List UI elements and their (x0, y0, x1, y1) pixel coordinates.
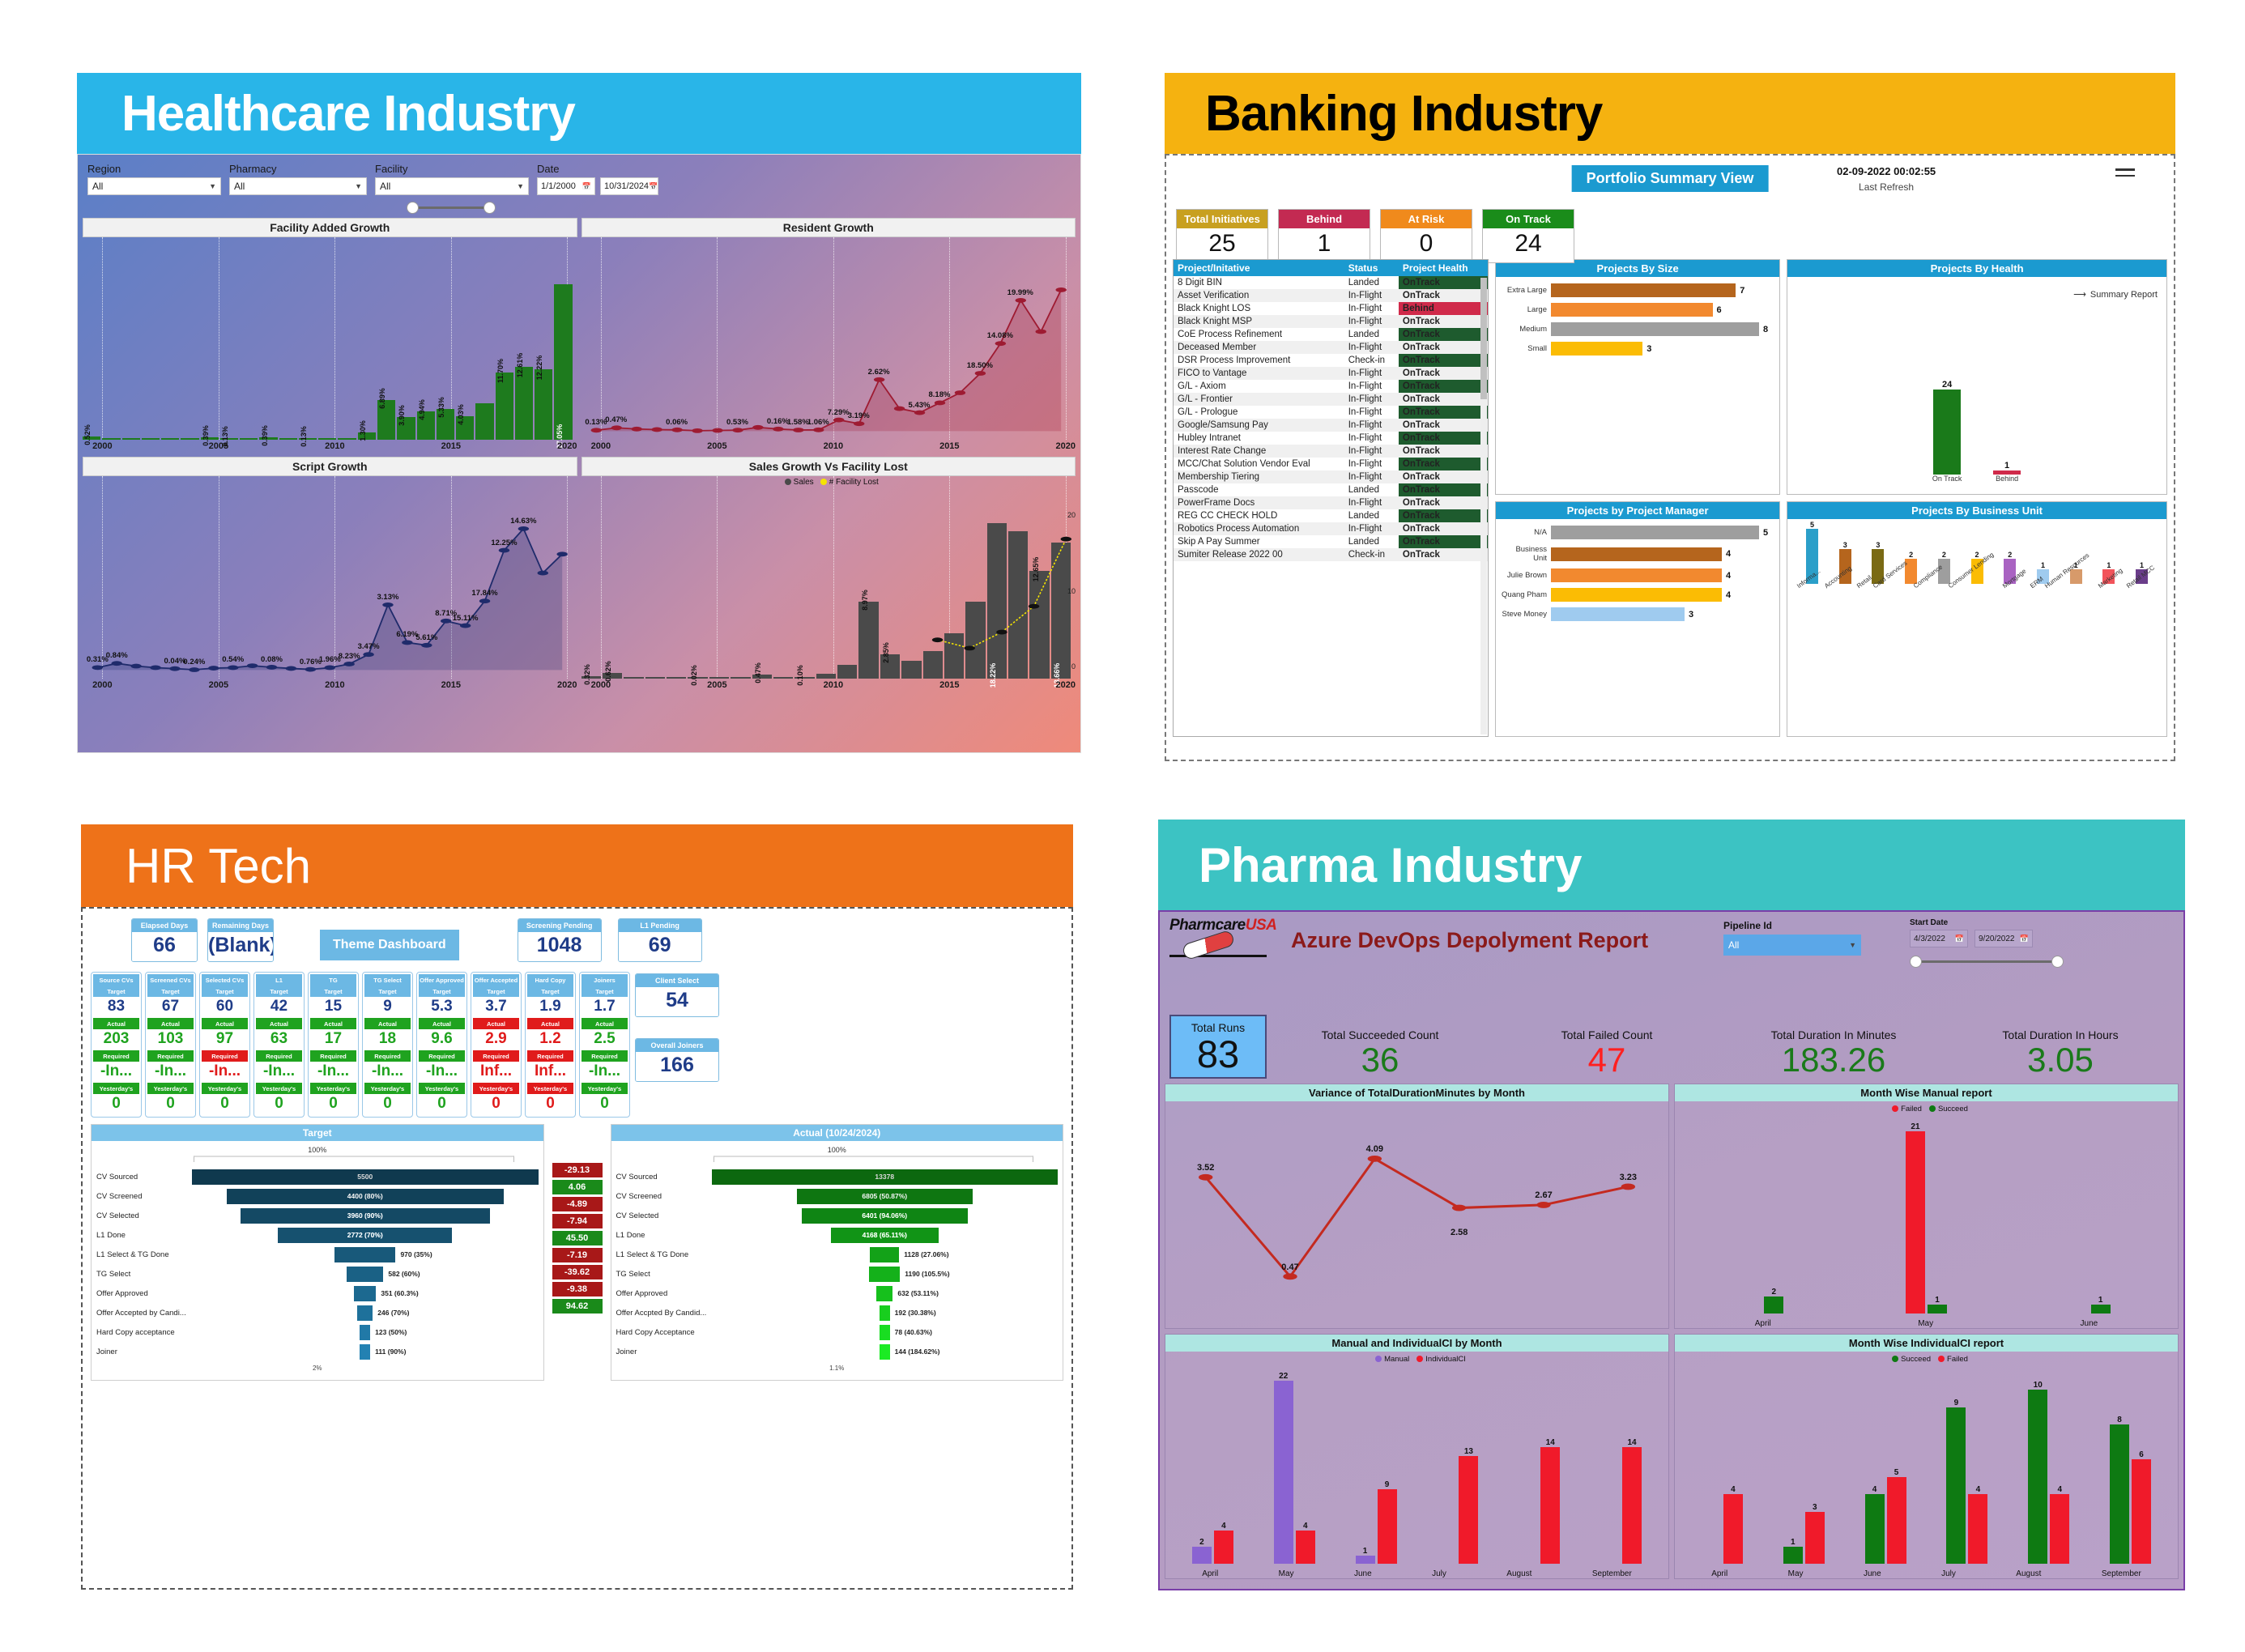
funnel-label: Joiner (616, 1348, 712, 1356)
funnel-value: 4400 (80%) (347, 1192, 383, 1200)
pipeline-label: Pipeline Id (1723, 920, 1861, 931)
band-value: 3.7 (473, 997, 519, 1018)
bar-value: 8 (1763, 325, 1768, 334)
table-cell: Check-in (1344, 548, 1399, 561)
table-row[interactable]: Sumiter Release 2022 00Check-inOnTrack (1174, 548, 1488, 561)
table-cell: In-Flight (1344, 458, 1399, 470)
last-refresh-block: 02-09-2022 00:02:55 Last Refresh (1837, 165, 1936, 193)
table-scrollbar-thumb[interactable] (1480, 278, 1487, 399)
table-row[interactable]: Asset VerificationIn-FlightOnTrack (1174, 289, 1488, 302)
bar (1551, 342, 1642, 356)
band-value: 97 (202, 1029, 248, 1050)
chevron-down-icon: ▼ (517, 182, 524, 190)
band-value: 0 (93, 1094, 139, 1115)
funnel-label: Hard Copy Acceptance (616, 1328, 712, 1337)
date-to-input[interactable]: 10/31/2024 📅 (600, 177, 658, 195)
band-label: Offer Approved (419, 974, 465, 986)
point-label: 0.76% (300, 658, 322, 666)
table-row[interactable]: G/L - PrologueIn-FlightOnTrack (1174, 406, 1488, 419)
chart-title: Variance of TotalDurationMinutes by Mont… (1165, 1084, 1668, 1101)
hrtech-kpi-8: Hard CopyTarget1.9Actual1.2RequiredInf..… (525, 972, 576, 1118)
card-label: Overall Joiners (636, 1039, 718, 1052)
point-label: 0.08% (261, 655, 283, 664)
funnel-bar (880, 1305, 890, 1321)
funnel-bar-wrap: 351 (60.3%) (192, 1286, 539, 1301)
pharma-date-from[interactable]: 4/3/2022 📅 (1910, 930, 1968, 947)
bar-value: 1 (2098, 1296, 2103, 1305)
funnel-bar (354, 1286, 376, 1301)
table-row[interactable]: MCC/Chat Solution Vendor EvalIn-FlightOn… (1174, 458, 1488, 470)
funnel-value: 111 (90%) (375, 1348, 406, 1356)
chart-title: Script Growth (83, 457, 577, 476)
bar-group: 45 (1865, 1373, 1906, 1564)
point-label: 2.67 (1535, 1190, 1552, 1200)
slider-knob-right[interactable] (484, 202, 496, 214)
logo-suffix: USA (1246, 917, 1277, 934)
bar-label: Business Unit (1501, 545, 1551, 563)
portfolio-summary-view-button[interactable]: Portfolio Summary View (1572, 165, 1769, 192)
pharma-date-from-value: 4/3/2022 (1914, 935, 1945, 943)
chart-title: Projects by Project Manager (1496, 502, 1779, 519)
band-label: Actual (527, 1018, 573, 1029)
filter-facility-select[interactable]: All ▼ (375, 177, 529, 195)
table-row[interactable]: Google/Samsung PayIn-FlightOnTrack (1174, 419, 1488, 432)
funnel-ruler (194, 1156, 514, 1162)
bar-row: Quang Pham4 (1501, 588, 1774, 602)
band-label: Actual (364, 1018, 411, 1029)
banking-kpi-row: Total Initiatives25Behind1At Risk0On Tra… (1176, 209, 1574, 263)
slider-knob-left[interactable] (407, 202, 419, 214)
table-row[interactable]: PowerFrame DocsIn-FlightOnTrack (1174, 496, 1488, 509)
point-label: 0.04% (164, 657, 185, 666)
x-axis: AprilMayJune (1681, 1319, 2171, 1328)
refresh-timestamp: 02-09-2022 00:02:55 (1837, 165, 1936, 177)
hrtech-kpi-2: Selected CVsTarget60Actual97Required-In.… (199, 972, 250, 1118)
x-axis: 20002005201020152020 (83, 680, 577, 692)
card-label: Client Select (636, 974, 718, 987)
table-row[interactable]: Interest Rate ChangeIn-FlightOnTrack (1174, 445, 1488, 458)
band-label: Selected CVs (202, 974, 248, 986)
bar-value: 2 (1975, 551, 1979, 559)
table-cell: In-Flight (1344, 470, 1399, 483)
bar: 4.94% (417, 411, 435, 440)
kpi-value: 47 (1493, 1041, 1720, 1079)
chart-plot: 24On Track1Behind (1787, 277, 2166, 494)
table-scrollbar[interactable] (1480, 278, 1487, 734)
band-label: Required (256, 1050, 302, 1062)
band-value: 60 (202, 997, 248, 1018)
bar-value: 1 (1935, 1296, 1940, 1305)
band-label: Source CVs (93, 974, 139, 986)
bar: 8 (2110, 1424, 2129, 1564)
legend-swatch (1892, 1105, 1898, 1112)
point-label: 0.06% (666, 418, 688, 427)
bar-value: 1 (1363, 1547, 1368, 1556)
x-tick: 2015 (939, 441, 959, 451)
bar-value: 22 (1279, 1372, 1288, 1381)
band-label: Target (202, 986, 248, 997)
band-label: Offer Accepted (473, 974, 519, 986)
chart-plot: FailedSucceed22111AprilMayJune (1675, 1101, 2178, 1328)
x-tick: 2000 (92, 680, 112, 690)
hrtech-kpi-6: Offer ApprovedTarget5.3Actual9.6Required… (416, 972, 467, 1118)
table-row[interactable]: DSR Process ImprovementCheck-inOnTrack (1174, 354, 1488, 367)
bar-value: 4 (1726, 590, 1731, 600)
pharma-dashboard: Pharma Industry PharmcareUSA Azure DevOp… (1158, 820, 2185, 1593)
band-value: 0 (147, 1094, 194, 1115)
bar: 2 (1192, 1547, 1212, 1564)
hrtech-variance-column: -29.134.06-4.89-7.9445.50-7.19-39.62-9.3… (552, 1124, 603, 1381)
table-row[interactable]: 8 Digit BINLandedOnTrack (1174, 276, 1488, 289)
band-label: Target (364, 986, 411, 997)
card-value: 1048 (518, 932, 601, 961)
chevron-down-icon: ▼ (209, 182, 216, 190)
table-cell: In-Flight (1344, 341, 1399, 354)
x-tick: June (2081, 1319, 2098, 1328)
pharma-date-to[interactable]: 9/20/2022 📅 (1974, 930, 2033, 947)
table-cell: Google/Samsung Pay (1174, 419, 1344, 432)
chart-legend: ManualIndividualCI (1170, 1355, 1664, 1364)
table-row[interactable]: Hubley IntranetIn-FlightOnTrack (1174, 432, 1488, 445)
band-label: Target (473, 986, 519, 997)
menu-icon[interactable] (2115, 168, 2135, 181)
pharma-top-bar: PharmcareUSA Azure DevOps Depolyment Rep… (1165, 917, 2179, 981)
bar-label: Steve Money (1501, 610, 1551, 619)
point-label: 0.53% (726, 418, 748, 427)
calendar-icon: 📅 (649, 182, 658, 191)
table-cell: In-Flight (1344, 289, 1399, 302)
chart-title: Sales Growth Vs Facility Lost (581, 457, 1076, 476)
x-axis: AprilMayJuneJulyAugustSeptember (1681, 1569, 2171, 1578)
bar-value: 7 (1740, 286, 1744, 296)
band-label: Yesterday's (256, 1083, 302, 1094)
card-value: 54 (636, 987, 718, 1016)
point-label: 2.62% (868, 368, 890, 377)
table-cell: CoE Process Refinement (1174, 328, 1344, 341)
healthcare-chart-0: Facility Added Growth0.52%0.39%0.13%0.39… (83, 218, 577, 453)
bar: 13 (1459, 1456, 1478, 1564)
band-label: Required (581, 1050, 628, 1062)
bar-value: 6 (1717, 305, 1722, 315)
band-label: Yesterday's (364, 1083, 411, 1094)
bar: 1 (2091, 1305, 2111, 1314)
filter-facility-value: All (380, 181, 390, 192)
healthcare-body: Region All ▼ Pharmacy All ▼ Facility All… (77, 154, 1081, 753)
variance-pill: -4.89 (552, 1197, 603, 1211)
bar: 4 (2050, 1494, 2069, 1564)
bar (1551, 526, 1759, 539)
pipeline-filter: Pipeline Id All ▼ (1723, 920, 1861, 956)
column-header: Project Health (1399, 260, 1488, 276)
filter-facility-label: Facility (375, 163, 529, 175)
bar: 3.90% (397, 417, 415, 440)
table-row[interactable]: FICO to VantageIn-FlightOnTrack (1174, 367, 1488, 380)
funnel-label: Offer Approved (96, 1289, 192, 1298)
funnel-value: 6401 (94.06%) (862, 1211, 907, 1220)
banking-kpi-2: At Risk0 (1380, 209, 1472, 263)
card-value: 69 (619, 932, 701, 961)
bar-group: 4 (1702, 1373, 1743, 1564)
band-label: Actual (581, 1018, 628, 1029)
x-axis: 20002005201020152020 (581, 441, 1076, 453)
bar-value: 14 (1627, 1438, 1636, 1447)
table-row[interactable]: REG CC CHECK HOLDLandedOnTrack (1174, 509, 1488, 522)
table-cell: OnTrack (1399, 535, 1488, 548)
legend-label: Failed (1901, 1105, 1922, 1113)
bar-value: 4 (1872, 1485, 1877, 1494)
table-cell: G/L - Frontier (1174, 393, 1344, 406)
bar-value-label: 6.89% (378, 388, 386, 409)
hrtech-kpi-1: Screened CVsTarget67Actual103Required-In… (145, 972, 196, 1118)
initiatives-table-wrapper: Project/InitativeStatusProject Health 8 … (1173, 259, 1489, 737)
point-label: 0.13% (585, 418, 607, 427)
hrtech-side-cards: Client Select54Overall Joiners166 (635, 967, 719, 1118)
table-cell: OnTrack (1399, 458, 1488, 470)
x-tick: 2000 (92, 441, 112, 451)
band-value: -In... (310, 1062, 356, 1083)
pharma-kpi-1: Total Failed Count47 (1493, 1028, 1720, 1079)
calendar-icon: 📅 (1955, 935, 1964, 943)
kpi-label: Total Succeeded Count (1267, 1028, 1493, 1041)
funnel-bar-wrap: 6401 (94.06%) (712, 1208, 1059, 1224)
table-cell: Robotics Process Automation (1174, 522, 1344, 535)
table-cell: OnTrack (1399, 328, 1488, 341)
bar-value: 4 (1726, 549, 1731, 559)
band-value: 1.9 (527, 997, 573, 1018)
funnel-bar: 3960 (90%) (241, 1208, 490, 1224)
banking-title: Banking Industry (1205, 85, 1602, 143)
funnel-bar: 6805 (50.87%) (797, 1189, 973, 1204)
variance-pill: -9.38 (552, 1282, 603, 1296)
filter-pharmacy-select[interactable]: All ▼ (229, 177, 367, 195)
date-from-input[interactable]: 1/1/2000 📅 (537, 177, 595, 195)
funnel-label: L1 Done (616, 1231, 712, 1240)
funnel-value: 970 (35%) (400, 1250, 432, 1258)
band-value: 0 (256, 1094, 302, 1115)
table-cell: OnTrack (1399, 289, 1488, 302)
funnel-row: CV Selected6401 (94.06%) (616, 1206, 1059, 1225)
funnel-value: 144 (184.62%) (895, 1348, 940, 1356)
table-cell: In-Flight (1344, 419, 1399, 432)
table-cell: OnTrack (1399, 445, 1488, 458)
chart-title: Manual and IndividualCI by Month (1165, 1335, 1668, 1352)
bar: 0.13% (220, 438, 238, 440)
bar (161, 438, 179, 440)
chart-title: Facility Added Growth (83, 218, 577, 237)
band-value: 17 (310, 1029, 356, 1050)
theme-dashboard-button[interactable]: Theme Dashboard (320, 930, 459, 960)
band-value: Inf... (473, 1062, 519, 1083)
pharma-chart-0: Variance of TotalDurationMinutes by Mont… (1165, 1084, 1669, 1329)
x-tick: 2020 (557, 680, 577, 690)
band-label: Screened CVs (147, 974, 194, 986)
table-body: 8 Digit BINLandedOnTrackAsset Verificati… (1174, 276, 1488, 561)
bar-column: 24On Track (1933, 390, 1961, 475)
funnel-label: Joiner (96, 1348, 192, 1356)
table-cell: OnTrack (1399, 432, 1488, 445)
chart-legend: Sales# Facility Lost (581, 478, 1076, 487)
band-value: 0 (202, 1094, 248, 1115)
band-value: 9.6 (419, 1029, 465, 1050)
table-row[interactable]: G/L - FrontierIn-FlightOnTrack (1174, 393, 1488, 406)
point-label: 0.47 (1281, 1262, 1298, 1272)
filter-pharmacy-value: All (234, 181, 245, 192)
date-range-slider[interactable] (407, 200, 496, 215)
table-cell: Hubley Intranet (1174, 432, 1344, 445)
x-tick: May (1918, 1319, 1933, 1328)
table-row[interactable]: PasscodeLandedOnTrack (1174, 483, 1488, 496)
bar-series: 0.52%0.39%0.13%0.39%0.13%1.30%6.89%3.90%… (83, 241, 573, 440)
x-tick: 2010 (824, 680, 843, 690)
funnel-row: Joiner111 (90%) (96, 1342, 539, 1361)
x-axis: Informa...AccountingRetailCard ServicesC… (1792, 584, 2162, 632)
legend-swatch (820, 479, 827, 485)
bar-label: Large (1501, 305, 1551, 314)
band-value: 63 (256, 1029, 302, 1050)
bar-value: 2 (1199, 1538, 1204, 1547)
bar-value-label: 1.30% (359, 420, 367, 441)
banking-chart-3: Projects By Business Unit53322221111Info… (1787, 501, 2167, 737)
bar: 3 (1805, 1512, 1825, 1564)
table-row[interactable]: Skip A Pay SummerLandedOnTrack (1174, 535, 1488, 548)
funnel-top-label: 100% (616, 1146, 1059, 1154)
hrtech-header: HR Tech (81, 824, 1073, 907)
funnel-row: CV Selected3960 (90%) (96, 1206, 539, 1225)
legend-label: Succeed (1901, 1355, 1931, 1364)
slider-knob-left[interactable] (1910, 956, 1922, 968)
table-cell: Asset Verification (1174, 289, 1344, 302)
point-label: 19.99% (1007, 288, 1033, 297)
table-cell: OnTrack (1399, 483, 1488, 496)
hrtech-funnels: Target100%CV Sourced5500CV Screened4400 … (91, 1124, 1063, 1381)
bar-group: 86 (2110, 1373, 2151, 1564)
band-value: Inf... (527, 1062, 573, 1083)
bar-value: 9 (1385, 1480, 1390, 1489)
kpi-value: 0 (1381, 228, 1472, 262)
x-tick: 2010 (824, 441, 843, 451)
funnel-bar-wrap: 5500 (192, 1169, 539, 1185)
logo-text: Pharmcare (1169, 917, 1246, 934)
filter-region-label: Region (87, 163, 221, 175)
column-header: Status (1344, 260, 1399, 276)
pharma-chart-grid: Variance of TotalDurationMinutes by Mont… (1165, 1084, 2179, 1579)
table-cell: OnTrack (1399, 315, 1488, 328)
bar-value: 4 (1731, 1485, 1736, 1494)
legend-label: Manual (1384, 1355, 1409, 1364)
healthcare-chart-1: Resident Growth0.13%0.47%0.06%0.53%0.16%… (581, 218, 1076, 453)
bar-value: 6 (2139, 1450, 2144, 1459)
funnel-bar: 5500 (192, 1169, 539, 1185)
chart-title: Resident Growth (581, 218, 1076, 237)
table-cell: Landed (1344, 328, 1399, 341)
x-tick: August (1506, 1569, 1531, 1578)
chart-title: Actual (10/24/2024) (611, 1125, 1063, 1141)
table-row[interactable]: Deceased MemberIn-FlightOnTrack (1174, 341, 1488, 354)
filter-region-select[interactable]: All ▼ (87, 177, 221, 195)
hrtech-kpi-9: JoinersTarget1.7Actual2.5Required-In...Y… (579, 972, 630, 1118)
table-row[interactable]: Membership TieringIn-FlightOnTrack (1174, 470, 1488, 483)
point-label: 3.23 (1620, 1173, 1637, 1182)
x-tick: 2010 (325, 680, 344, 690)
table-cell: In-Flight (1344, 496, 1399, 509)
bar-label: Quang Pham (1501, 590, 1551, 599)
table-row[interactable]: Black Knight LOSIn-FlightBehind (1174, 302, 1488, 315)
table-cell: In-Flight (1344, 367, 1399, 380)
bar-value: 3 (1843, 541, 1847, 549)
filter-facility: Facility All ▼ (375, 163, 529, 195)
variance-pill: -29.13 (552, 1163, 603, 1177)
chart-plot: ManualIndividualCI2422419131414AprilMayJ… (1165, 1352, 1668, 1578)
band-value: 42 (256, 997, 302, 1018)
refresh-label: Last Refresh (1837, 181, 1936, 193)
funnel-row: Offer Approved632 (53.11%) (616, 1284, 1059, 1303)
x-tick: 2005 (209, 680, 228, 690)
funnel-row: Offer Accpted By Candid...192 (30.38%) (616, 1303, 1059, 1322)
bar: 10 (2028, 1390, 2047, 1564)
table-cell: Check-in (1344, 354, 1399, 367)
funnel-bar-wrap: 192 (30.38%) (712, 1305, 1059, 1321)
kpi-label: Total Duration In Minutes (1720, 1028, 1947, 1041)
table-cell: 8 Digit BIN (1174, 276, 1344, 289)
legend-swatch (785, 479, 791, 485)
band-value: 5.3 (419, 997, 465, 1018)
funnel-row: Hard Copy acceptance123 (50%) (96, 1322, 539, 1342)
pipeline-select[interactable]: All ▼ (1723, 935, 1861, 956)
band-value: 1.7 (581, 997, 628, 1018)
funnel-bar: 2772 (70%) (278, 1228, 452, 1243)
bar-value-label: 12.22% (535, 356, 543, 381)
total-runs-card: Total Runs 83 (1169, 1015, 1267, 1079)
bar: 21 (1906, 1131, 1925, 1314)
chart-legend: FailedSucceed (1680, 1105, 2173, 1113)
bar-value-label: 4.94% (418, 399, 426, 420)
pharma-date-slider[interactable] (1910, 954, 2064, 969)
funnel-bar-wrap: 6805 (50.87%) (712, 1189, 1059, 1204)
x-tick: 2000 (591, 441, 611, 451)
card-label: Remaining Days (208, 919, 273, 932)
band-value: 67 (147, 997, 194, 1018)
hrtech-title: HR Tech (126, 838, 311, 894)
table-cell: OnTrack (1399, 341, 1488, 354)
funnel-row: CV Sourced13378 (616, 1167, 1059, 1186)
banking-body: Portfolio Summary View 02-09-2022 00:02:… (1165, 154, 2175, 761)
banking-chart-1: Projects By Health24On Track1Behind (1787, 259, 2167, 495)
pharmcare-logo: PharmcareUSA (1169, 917, 1275, 957)
table-row[interactable]: Black Knight MSPIn-FlightOnTrack (1174, 315, 1488, 328)
bar (1551, 547, 1722, 561)
table-row[interactable]: G/L - AxiomIn-FlightOnTrack (1174, 380, 1488, 393)
bar: 0.39% (201, 437, 219, 440)
bar-value-label: 12.61% (516, 353, 524, 378)
table-row[interactable]: CoE Process RefinementLandedOnTrack (1174, 328, 1488, 341)
table-cell: Landed (1344, 509, 1399, 522)
table-row[interactable]: Robotics Process AutomationIn-FlightOnTr… (1174, 522, 1488, 535)
table-cell: In-Flight (1344, 393, 1399, 406)
band-label: Yesterday's (202, 1083, 248, 1094)
hrtech-side-card-1: Overall Joiners166 (635, 1038, 719, 1082)
band-label: Target (147, 986, 194, 997)
bar-value: 5 (1763, 528, 1768, 538)
pharma-kpi-items: Total Succeeded Count36Total Failed Coun… (1267, 1028, 2174, 1079)
table-cell: OnTrack (1399, 367, 1488, 380)
filter-region: Region All ▼ (87, 163, 221, 195)
funnel-label: L1 Done (96, 1231, 192, 1240)
chart-plot: 53322221111Informa...AccountingRetailCar… (1787, 519, 2166, 736)
slider-knob-right[interactable] (2051, 956, 2064, 968)
pharma-kpi-3: Total Duration In Hours3.05 (1947, 1028, 2174, 1079)
table-cell: OnTrack (1399, 380, 1488, 393)
table-cell: Sumiter Release 2022 00 (1174, 548, 1344, 561)
